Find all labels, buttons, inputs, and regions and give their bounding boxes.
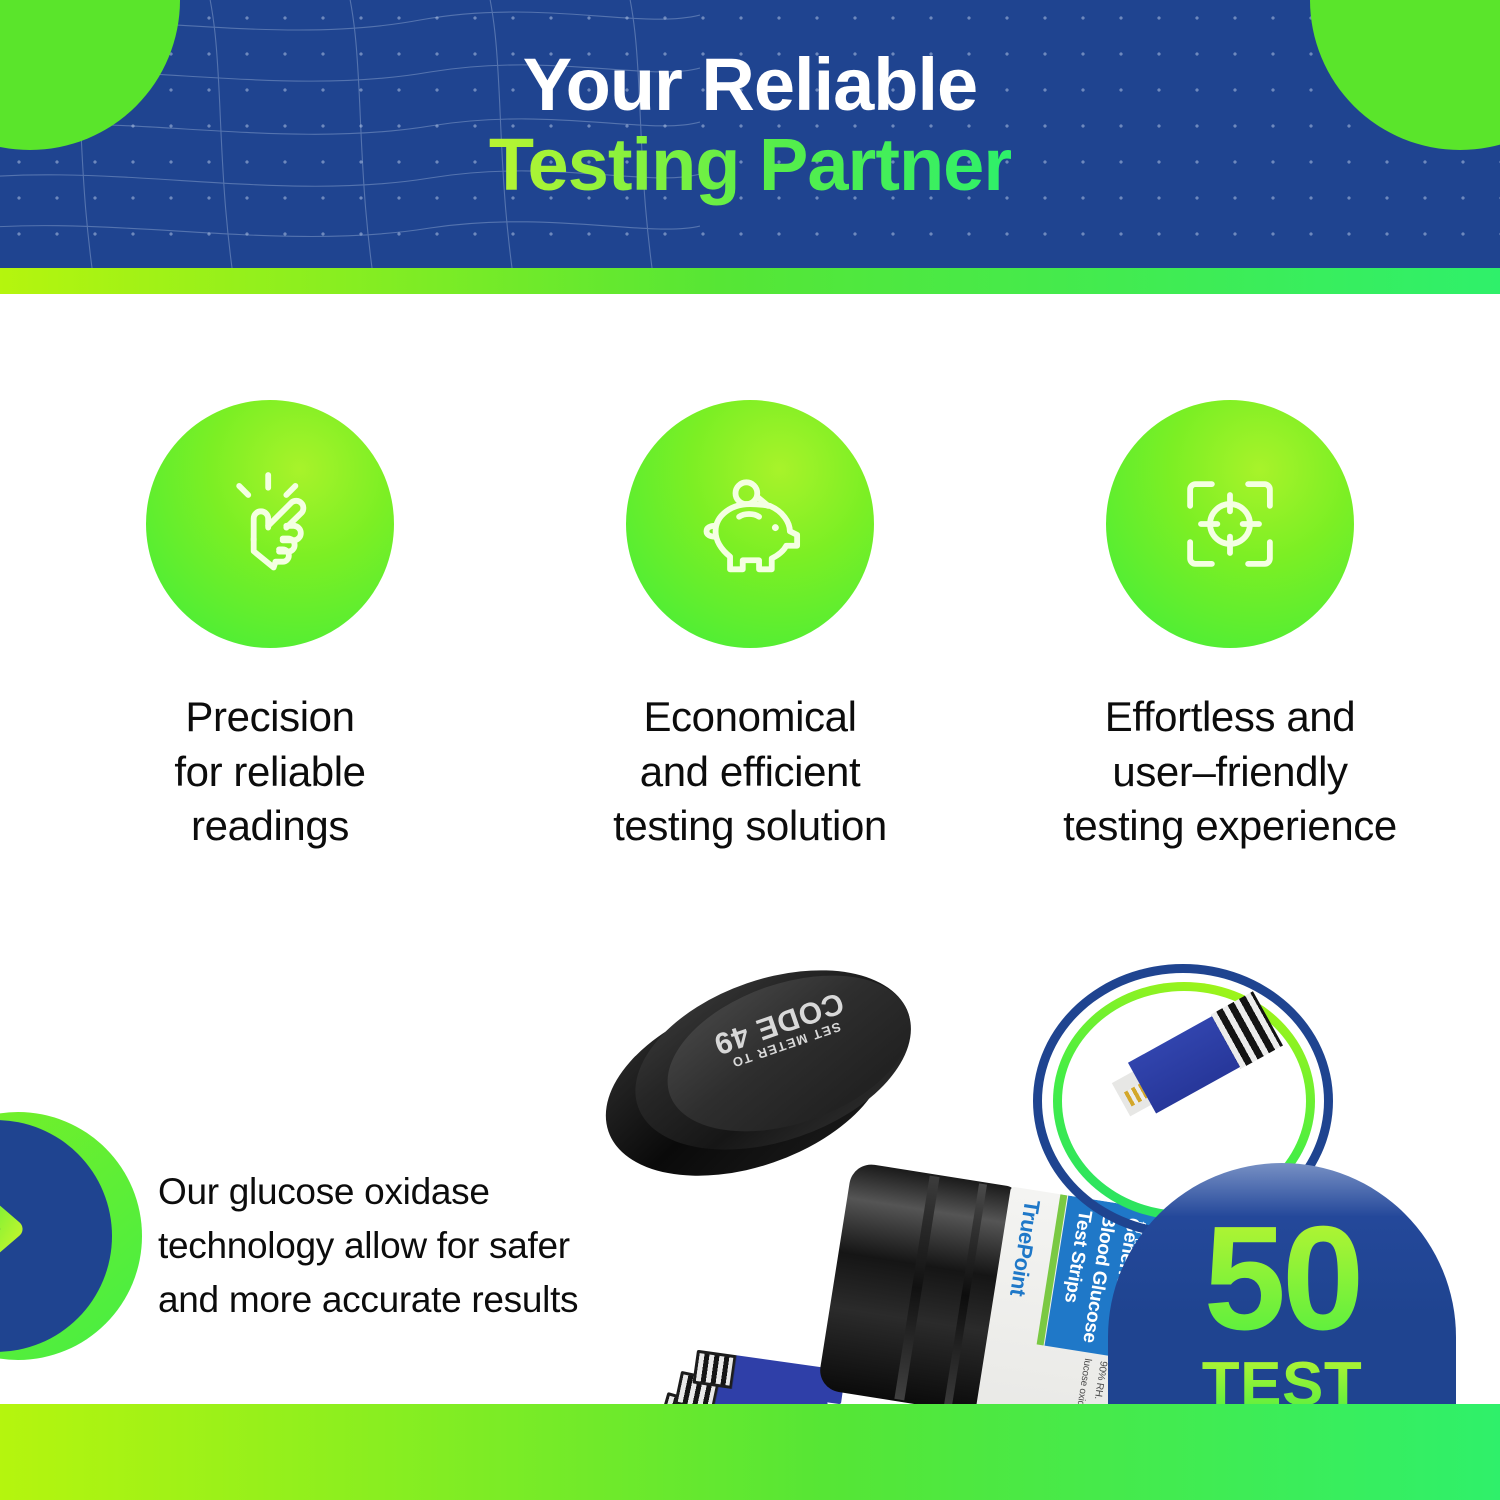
feature-item: Economical and efficient testing solutio… — [560, 400, 940, 854]
bottom-green-bar — [0, 1404, 1500, 1500]
feature-item: Effortless and user–friendly testing exp… — [1040, 400, 1420, 854]
headline-primary: Your Reliable — [523, 46, 977, 124]
feature-label: Economical and efficient testing solutio… — [613, 690, 887, 854]
feature-icon-badge — [1106, 400, 1354, 648]
target-focus-icon — [1172, 466, 1288, 582]
feature-label: Precision for reliable readings — [174, 690, 365, 854]
callout-arrow-badge — [0, 1112, 142, 1360]
page-header: Your Reliable Testing Partner — [0, 0, 1500, 268]
feature-item: Precision for reliable readings — [80, 400, 460, 854]
feature-label: Effortless and user–friendly testing exp… — [1063, 690, 1397, 854]
feature-icon-badge — [146, 400, 394, 648]
vial-ridge — [894, 1176, 939, 1401]
feature-icon-badge — [626, 400, 874, 648]
count-number: 50 — [1204, 1211, 1361, 1347]
chevron-right-icon — [0, 1186, 38, 1272]
headline-secondary: Testing Partner — [489, 124, 1011, 205]
top-green-divider-bar — [0, 268, 1500, 294]
header-title-block: Your Reliable Testing Partner — [0, 0, 1500, 268]
tap-hand-icon — [212, 466, 328, 582]
feature-list: Precision for reliable readings Economic… — [0, 400, 1500, 854]
piggy-bank-icon — [692, 466, 808, 582]
